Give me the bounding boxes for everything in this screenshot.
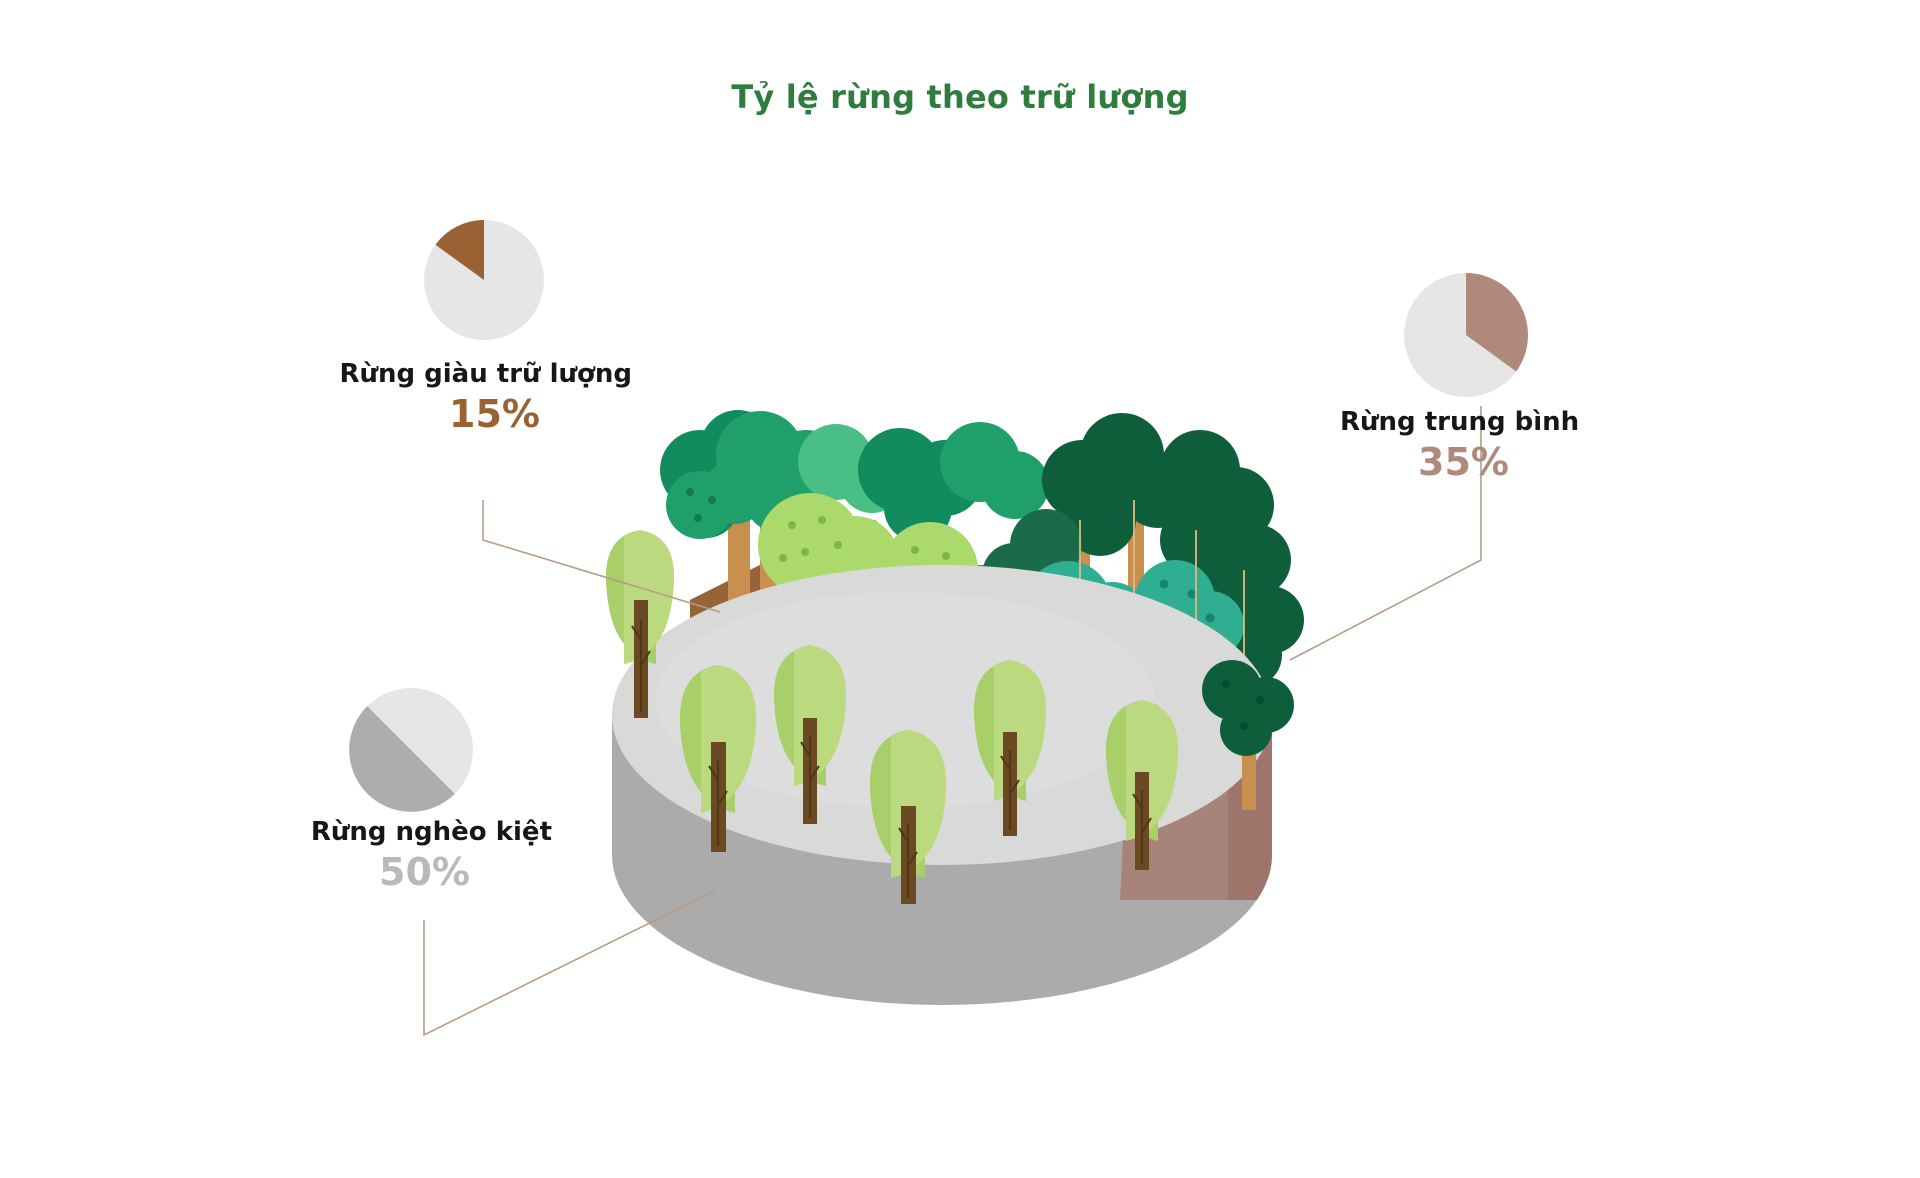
callout-poor-label: Rừng nghèo kiệt [0,818,580,847]
callout-rich-label: Rừng giàu trữ lượng [0,360,660,389]
infographic-canvas: Tỷ lệ rừng theo trữ lượng [0,0,1920,1178]
callout-medium-percent: 35% [1330,441,1890,485]
callout-rich-percent: 15% [0,393,660,437]
callout-medium-label: Rừng trung bình [1330,408,1890,437]
pie-poor [349,688,473,812]
callout-rich: Rừng giàu trữ lượng 15% [0,360,660,436]
callout-medium: Rừng trung bình 35% [1330,408,1890,484]
callout-poor-percent: 50% [0,851,580,895]
pie-medium [1404,273,1528,397]
leader-line-poor [424,890,716,1035]
canopy-dotted-dark [666,471,734,539]
pie-rich [424,220,544,340]
forest-cylinder-illustration [0,0,1920,1178]
callout-poor: Rừng nghèo kiệt 50% [0,818,580,894]
